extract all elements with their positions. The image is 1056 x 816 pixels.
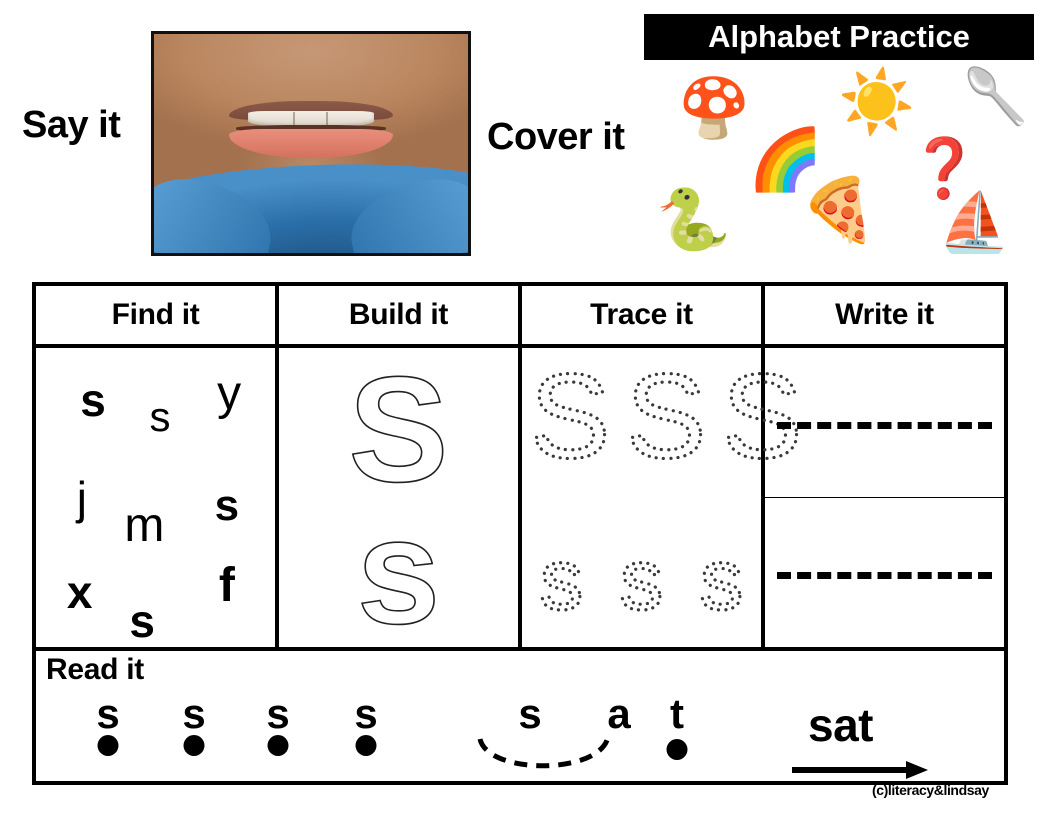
write-line-2[interactable] bbox=[765, 498, 1004, 648]
table-body-row: ssyjmsxsf Ss SSSsss bbox=[36, 348, 1004, 651]
write-line-1[interactable] bbox=[765, 348, 1004, 498]
column-header-find-it: Find it bbox=[36, 286, 279, 344]
build-it-outline-lower[interactable]: s bbox=[357, 496, 440, 646]
find-it-letter-f[interactable]: f bbox=[219, 562, 235, 610]
trace-it-dotted-letters[interactable]: SSSsss bbox=[522, 348, 761, 647]
blend-letter-a[interactable]: a bbox=[607, 693, 630, 735]
mushroom-picture: 🍄 bbox=[678, 80, 750, 138]
read-it-sound-dot bbox=[184, 735, 205, 756]
find-it-letter-s[interactable]: s bbox=[80, 377, 106, 423]
cover-it-picture-cluster: 🍄☀️🥄🌈❓🐍🍕⛵ bbox=[650, 62, 1050, 262]
write-dashed-midline bbox=[777, 422, 992, 429]
credit-text: (c)literacy&lindsay bbox=[872, 782, 989, 798]
blend-arc-connector bbox=[474, 735, 624, 781]
trace-row-uppercase[interactable]: SSS bbox=[522, 352, 761, 482]
column-header-write-it: Write it bbox=[765, 286, 1004, 344]
column-header-build-it: Build it bbox=[279, 286, 522, 344]
svg-text:s: s bbox=[540, 535, 583, 625]
read-it-sound-dot bbox=[268, 735, 289, 756]
trace-letter-S[interactable]: S bbox=[618, 354, 714, 480]
write-dashed-midline bbox=[777, 572, 992, 579]
svg-text:s: s bbox=[700, 535, 743, 625]
blend-sound-dot bbox=[667, 739, 688, 760]
find-it-letter-s[interactable]: s bbox=[129, 598, 155, 644]
cell-find-it[interactable]: ssyjmsxsf bbox=[36, 348, 279, 647]
find-it-letter-y[interactable]: y bbox=[217, 370, 241, 418]
title-bar-label: Alphabet Practice bbox=[708, 19, 970, 55]
spoon-picture: 🥄 bbox=[962, 70, 1029, 124]
cover-it-label: Cover it bbox=[487, 116, 624, 159]
find-it-letter-s[interactable]: s bbox=[215, 484, 239, 528]
column-header-trace-it: Trace it bbox=[522, 286, 765, 344]
trace-letter-s[interactable]: s bbox=[607, 535, 676, 625]
build-it-outline-letters[interactable]: Ss bbox=[279, 348, 518, 647]
blend-letter-t[interactable]: t bbox=[670, 693, 684, 735]
cell-trace-it[interactable]: SSSsss bbox=[522, 348, 765, 647]
svg-text:s: s bbox=[620, 535, 663, 625]
cell-write-it[interactable] bbox=[765, 348, 1004, 647]
cell-build-it[interactable]: Ss bbox=[279, 348, 522, 647]
sailboat-picture: ⛵ bbox=[938, 194, 1010, 252]
read-it-sound-s[interactable]: s bbox=[266, 693, 289, 735]
blend-letter-s[interactable]: s bbox=[518, 693, 541, 735]
read-it-word: sat bbox=[808, 698, 873, 752]
read-it-sound-s[interactable]: s bbox=[354, 693, 377, 735]
read-it-sound-s[interactable]: s bbox=[96, 693, 119, 735]
read-it-sound-dot bbox=[356, 735, 377, 756]
read-it-sound-dot bbox=[98, 735, 119, 756]
snake-picture: 🐍 bbox=[656, 190, 731, 250]
find-it-letter-grid[interactable]: ssyjmsxsf bbox=[44, 354, 267, 641]
pizza-picture: 🍕 bbox=[800, 180, 877, 242]
left-to-right-arrow-icon bbox=[790, 758, 930, 784]
title-bar: Alphabet Practice bbox=[644, 14, 1034, 60]
find-it-letter-s[interactable]: s bbox=[149, 396, 170, 438]
find-it-letter-x[interactable]: x bbox=[67, 569, 93, 615]
say-it-label: Say it bbox=[22, 104, 120, 147]
svg-text:S: S bbox=[626, 354, 706, 480]
find-it-letter-m[interactable]: m bbox=[124, 502, 164, 550]
read-it-label: Read it bbox=[46, 653, 144, 687]
trace-letter-S[interactable]: S bbox=[522, 354, 618, 480]
mouth-articulation-photo bbox=[151, 31, 471, 256]
trace-row-lowercase[interactable]: sss bbox=[522, 520, 761, 640]
sun-picture: ☀️ bbox=[838, 72, 915, 134]
write-it-lines[interactable] bbox=[765, 348, 1004, 647]
read-it-sound-s[interactable]: s bbox=[182, 693, 205, 735]
top-band: Say it Cover it Alphabet Practice 🍄☀️🥄🌈❓… bbox=[0, 0, 1056, 272]
svg-text:S: S bbox=[530, 354, 610, 480]
build-it-outline-upper[interactable]: S bbox=[348, 354, 448, 504]
trace-letter-s[interactable]: s bbox=[687, 535, 756, 625]
table-header-row: Find it Build it Trace it Write it bbox=[36, 286, 1004, 348]
trace-letter-s[interactable]: s bbox=[527, 535, 596, 625]
find-it-letter-j[interactable]: j bbox=[77, 475, 87, 521]
